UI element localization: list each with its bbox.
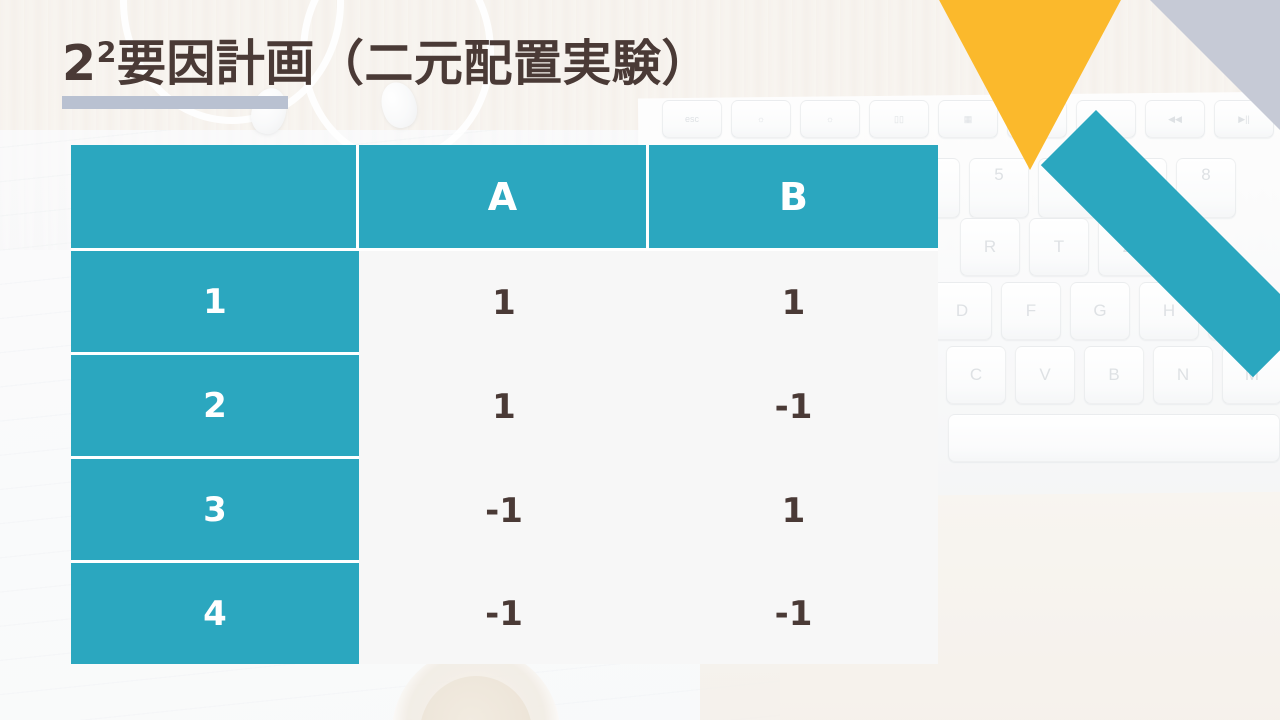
cell-row3-a: -1 <box>359 459 649 563</box>
cell-row1-b: 1 <box>649 251 938 355</box>
title-text: 要因計画（二元配置実験） <box>117 35 711 92</box>
table-corner-cell <box>71 145 359 251</box>
row-index-4: 4 <box>71 563 359 664</box>
row-index-3: 3 <box>71 459 359 563</box>
table-header: A B <box>71 145 938 251</box>
cell-row4-b: -1 <box>649 563 938 664</box>
title-base: 2 <box>62 35 97 92</box>
table-row: 4 -1 -1 <box>71 563 938 664</box>
cell-row1-a: 1 <box>359 251 649 355</box>
cell-row4-a: -1 <box>359 563 649 664</box>
column-header-a: A <box>359 145 649 251</box>
cell-row2-a: 1 <box>359 355 649 459</box>
table-row: 3 -1 1 <box>71 459 938 563</box>
cell-row2-b: -1 <box>649 355 938 459</box>
title-underline-rule <box>62 96 288 109</box>
row-index-2: 2 <box>71 355 359 459</box>
row-index-1: 1 <box>71 251 359 355</box>
page-title: 22要因計画（二元配置実験） <box>62 24 711 95</box>
table-body: 1 1 1 2 1 -1 3 -1 1 4 -1 -1 <box>71 251 938 664</box>
table-header-row: A B <box>71 145 938 251</box>
cell-row3-b: 1 <box>649 459 938 563</box>
table-row: 1 1 1 <box>71 251 938 355</box>
slide-canvas: esc ☼ ☼ ▯▯ ▦ ◀◀ ▶|| 4 5 6 7 8 R T Z D F … <box>0 0 1280 720</box>
title-exponent: 2 <box>97 37 117 70</box>
table-row: 2 1 -1 <box>71 355 938 459</box>
decor-gray-triangle <box>1150 0 1280 130</box>
column-header-b: B <box>649 145 938 251</box>
factorial-design-table: A B 1 1 1 2 1 -1 3 -1 1 4 -1 - <box>71 145 938 664</box>
